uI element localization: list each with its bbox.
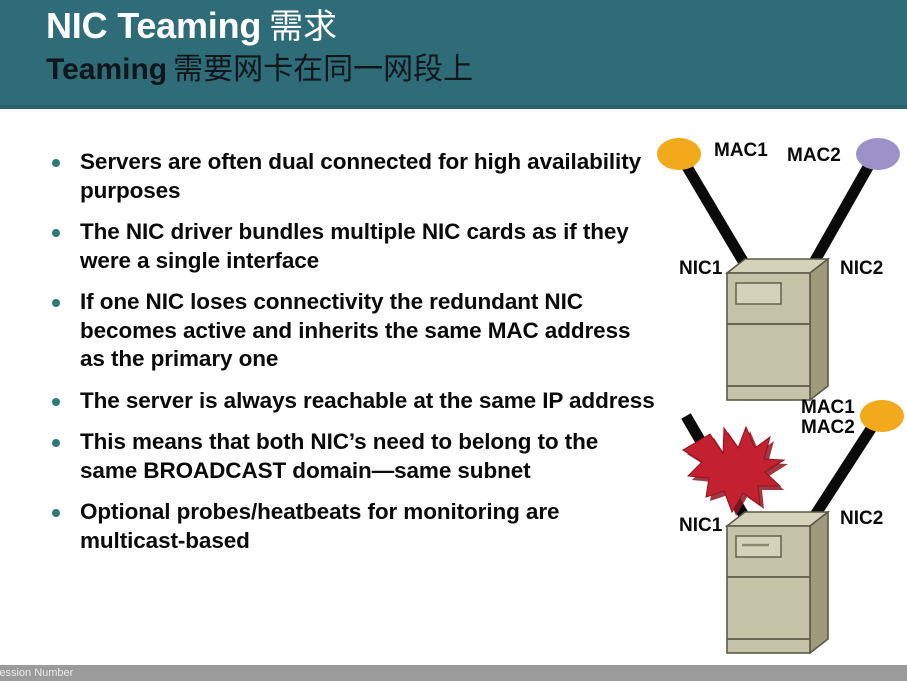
label-nic2: NIC2 bbox=[840, 258, 883, 279]
server-drive-bay bbox=[736, 536, 781, 557]
bullet-text: This means that both NIC’s need to belon… bbox=[80, 429, 598, 483]
header-divider bbox=[0, 105, 907, 109]
nic-teaming-diagram: MAC1 MAC2 NIC1 NIC2 bbox=[650, 128, 907, 663]
bullet-dot-icon bbox=[52, 229, 60, 237]
server-bottom-icon bbox=[727, 512, 828, 653]
link-nic2-to-mac2 bbox=[808, 160, 872, 273]
mac-combined-node-icon bbox=[860, 400, 904, 432]
server-drive-bay bbox=[736, 283, 781, 304]
page-title-english: NIC Teaming bbox=[46, 5, 261, 46]
bullet-item-3: If one NIC loses connectivity the redund… bbox=[46, 288, 656, 374]
label-mac1: MAC1 bbox=[714, 140, 768, 161]
footer-band bbox=[0, 665, 907, 681]
bullet-item-1: Servers are often dual connected for hig… bbox=[46, 148, 656, 205]
bullet-text: The NIC driver bundles multiple NIC card… bbox=[80, 219, 629, 273]
label-nic2-bottom: NIC2 bbox=[840, 508, 883, 529]
page-subtitle-english: Teaming bbox=[46, 53, 167, 86]
bullet-dot-icon bbox=[52, 159, 60, 167]
label-mac2: MAC2 bbox=[787, 145, 841, 166]
bullet-dot-icon bbox=[52, 439, 60, 447]
page-subtitle-chinese: 需要网卡在同一网段上 bbox=[173, 52, 473, 87]
label-mac2-bottom: MAC2 bbox=[801, 417, 855, 438]
bullet-item-4: The server is always reachable at the sa… bbox=[46, 387, 656, 416]
mac1-node-icon bbox=[657, 138, 701, 170]
page-subtitle: Teaming需要网卡在同一网段上 bbox=[46, 49, 473, 91]
link-nic1-to-mac1 bbox=[683, 160, 750, 273]
mac2-node-icon bbox=[856, 138, 900, 170]
diagram-bottom-scenario: MAC1 MAC2 NIC1 NIC2 bbox=[679, 397, 904, 653]
bullet-dot-icon bbox=[52, 509, 60, 517]
diagram-top-scenario: MAC1 MAC2 NIC1 NIC2 bbox=[657, 138, 900, 400]
bullet-text: If one NIC loses connectivity the redund… bbox=[80, 289, 630, 371]
label-nic1-bottom: NIC1 bbox=[679, 515, 723, 536]
bullet-dot-icon bbox=[52, 398, 60, 406]
bullet-list: Servers are often dual connected for hig… bbox=[46, 148, 656, 568]
bullet-text: Servers are often dual connected for hig… bbox=[80, 149, 641, 203]
label-mac1-bottom: MAC1 bbox=[801, 397, 855, 418]
bullet-item-6: Optional probes/heatbeats for monitoring… bbox=[46, 498, 656, 555]
slide-canvas: NIC Teaming需求 Teaming需要网卡在同一网段上 Servers … bbox=[0, 0, 907, 681]
page-title: NIC Teaming需求 bbox=[46, 3, 337, 50]
link-failure-icon bbox=[683, 427, 788, 516]
label-nic1: NIC1 bbox=[679, 258, 723, 279]
footer-session-number: Session Number bbox=[0, 665, 73, 681]
bullet-dot-icon bbox=[52, 299, 60, 307]
page-title-chinese: 需求 bbox=[269, 7, 337, 47]
bullet-text: The server is always reachable at the sa… bbox=[80, 388, 655, 413]
bullet-item-2: The NIC driver bundles multiple NIC card… bbox=[46, 218, 656, 275]
bullet-item-5: This means that both NIC’s need to belon… bbox=[46, 428, 656, 485]
bullet-text: Optional probes/heatbeats for monitoring… bbox=[80, 499, 559, 553]
server-top-icon bbox=[727, 259, 828, 400]
